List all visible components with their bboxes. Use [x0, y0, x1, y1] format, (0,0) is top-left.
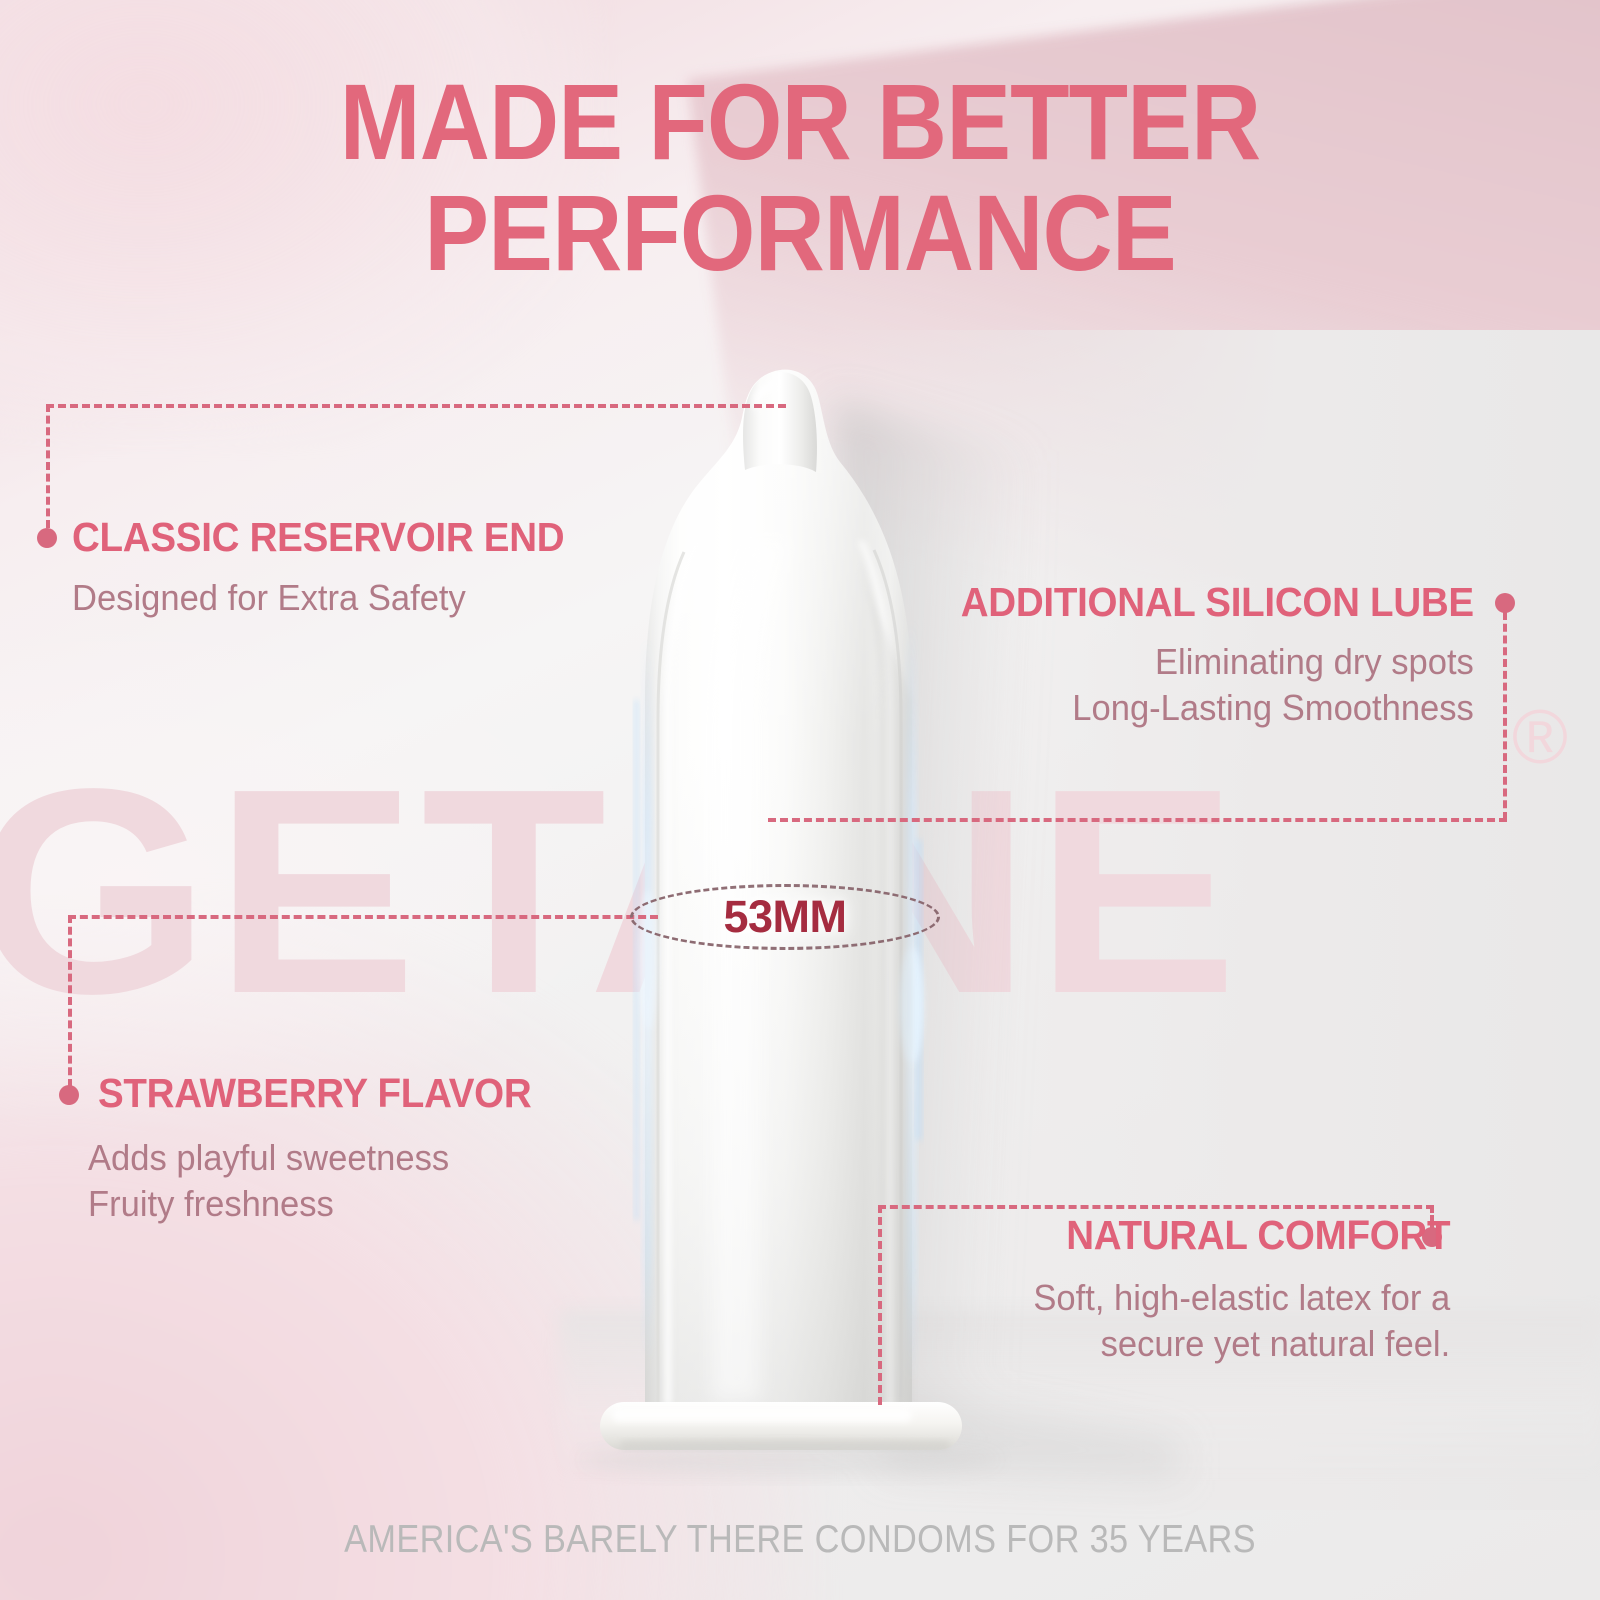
callout-subtitle-strawberry-line-1: Adds playful sweetness: [88, 1135, 540, 1181]
callout-classic-reservoir-end: CLASSIC RESERVOIR END Designed for Extra…: [72, 516, 596, 621]
callout-subtitle-reservoir: Designed for Extra Safety: [72, 575, 575, 621]
callout-subtitle-strawberry: Adds playful sweetness Fruity freshness: [88, 1135, 540, 1227]
connector-line-comfort-vertical: [878, 1205, 882, 1405]
callout-title-reservoir: CLASSIC RESERVOIR END: [72, 516, 564, 559]
headline-line-2: PERFORMANCE: [80, 177, 1520, 288]
connector-line-strawberry-horizontal: [68, 915, 658, 919]
connector-line-comfort-horizontal: [878, 1205, 1434, 1209]
registered-trademark-icon: ®: [1512, 700, 1568, 776]
callout-subtitle-strawberry-line-2: Fruity freshness: [88, 1181, 540, 1227]
callout-subtitle-comfort-line-2: secure yet natural feel.: [1033, 1321, 1450, 1367]
connector-line-lube-vertical: [1503, 612, 1507, 820]
callout-subtitle-lube-line-1: Eliminating dry spots: [950, 639, 1474, 685]
size-measurement: 53MM: [630, 872, 950, 968]
callout-subtitle-comfort-line-1: Soft, high-elastic latex for a: [1033, 1275, 1450, 1321]
connector-line-reservoir-vertical: [46, 404, 50, 528]
callout-natural-comfort: NATURAL COMFORT Soft, high-elastic latex…: [1016, 1214, 1450, 1367]
callout-title-strawberry: STRAWBERRY FLAVOR: [98, 1072, 531, 1115]
connector-dot-reservoir: [37, 528, 57, 548]
size-measurement-label: 53MM: [630, 886, 940, 948]
headline-line-1: MADE FOR BETTER: [80, 66, 1520, 177]
callout-subtitle-reservoir-line-1: Designed for Extra Safety: [72, 575, 575, 621]
connector-dot-lube: [1495, 593, 1515, 613]
footer-tagline: AMERICA'S BARELY THERE CONDOMS FOR 35 YE…: [0, 1518, 1600, 1562]
callout-subtitle-lube: Eliminating dry spots Long-Lasting Smoot…: [950, 639, 1474, 731]
callout-title-comfort: NATURAL COMFORT: [1042, 1214, 1450, 1257]
connector-line-lube-horizontal: [768, 818, 1507, 822]
callout-additional-silicon-lube: ADDITIONAL SILICON LUBE Eliminating dry …: [928, 581, 1474, 731]
connector-dot-strawberry: [59, 1085, 79, 1105]
callout-title-lube: ADDITIONAL SILICON LUBE: [961, 581, 1474, 624]
connector-line-strawberry-vertical: [68, 915, 72, 1087]
connector-line-reservoir-horizontal: [46, 404, 786, 408]
callout-subtitle-comfort: Soft, high-elastic latex for a secure ye…: [1033, 1275, 1450, 1367]
page-title: MADE FOR BETTER PERFORMANCE: [0, 66, 1600, 288]
callout-strawberry-flavor: STRAWBERRY FLAVOR Adds playful sweetness…: [98, 1072, 559, 1227]
footer-tagline-text: AMERICA'S BARELY THERE CONDOMS FOR 35 YE…: [344, 1518, 1256, 1562]
callout-subtitle-lube-line-2: Long-Lasting Smoothness: [950, 685, 1474, 731]
